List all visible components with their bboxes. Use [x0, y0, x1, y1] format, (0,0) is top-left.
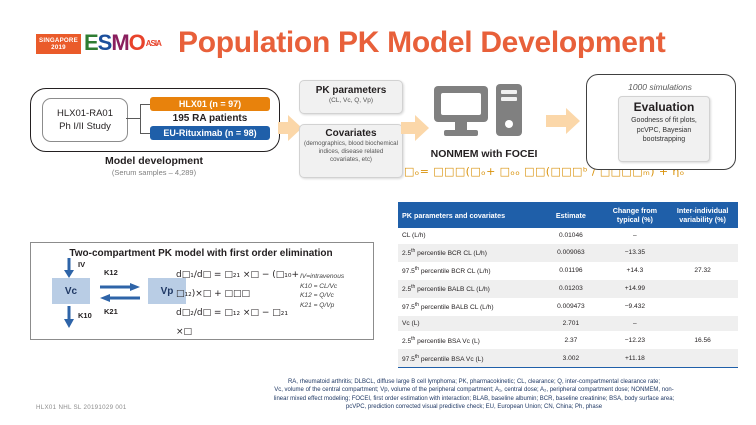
- covariates-subtitle: (demographics, blood biochemical indices…: [300, 140, 402, 164]
- pk-model-equation-line1: d□₁/d□ = □₂₁ ×□ − (□₁₀+ □₁₂)×□ + □□□: [176, 266, 306, 304]
- cell-parameter: CL (L/h): [398, 228, 539, 244]
- table-row: 97.5th percentile BSA Vc (L)3.002+11.18: [398, 349, 738, 367]
- nonmem-label: NONMEM with FOCEI: [404, 148, 564, 160]
- cell-change: +14.99: [603, 280, 668, 298]
- logo-city: SINGAPORE: [39, 37, 78, 44]
- cell-estimate: 3.002: [539, 349, 602, 367]
- covariates-title: Covariates: [300, 128, 402, 139]
- footnote-line-1: RA, rheumatoid arthritis; DLBCL, diffuse…: [196, 378, 752, 386]
- cell-change: −9.432: [603, 298, 668, 316]
- footnote-line-3: linear mixed effect modeling; FOCEI, fir…: [196, 395, 752, 403]
- legend-item-k12: K12 = Q/Vc: [300, 291, 370, 301]
- table-row: 2.5th percentile BSA Vc (L)2.37−12.2316.…: [398, 331, 738, 349]
- page-title: Population PK Model Development: [178, 26, 665, 60]
- logo-year: 2019: [39, 44, 78, 51]
- cell-iiv: [667, 349, 738, 367]
- pk-model-title: Two-compartment PK model with first orde…: [40, 248, 362, 259]
- study-name-box: HLX01-RA01 Ph I/II Study: [42, 98, 128, 142]
- logo-asia-suffix: ASIA: [146, 33, 161, 55]
- study-name-line1: HLX01-RA01: [57, 107, 113, 120]
- logo-singapore-badge: SINGAPORE 2019: [36, 34, 81, 54]
- simulations-label: 1000 simulations: [600, 82, 720, 92]
- pk-parameters-title: PK parameters: [300, 85, 402, 96]
- cell-change: –: [603, 316, 668, 332]
- cell-parameter: 2.5th percentile BSA Vc (L): [398, 331, 539, 349]
- k12-label: K12: [104, 268, 118, 277]
- cell-estimate: 0.01196: [539, 262, 602, 280]
- intercompartment-transfer-arrows-icon: [98, 282, 142, 304]
- connector-line: [140, 104, 150, 105]
- central-compartment-box: Vc: [52, 278, 90, 304]
- cell-change: −13.35: [603, 244, 668, 262]
- connector-line: [140, 133, 150, 134]
- slide-identifier: HLX01 NHL SL 20191029 001: [36, 404, 127, 411]
- cell-iiv: [667, 244, 738, 262]
- serum-samples-caption: (Serum samples – 4,289): [64, 168, 244, 177]
- cell-estimate: 0.01203: [539, 280, 602, 298]
- desktop-computer-icon: [432, 84, 528, 144]
- column-header-iiv: Inter-individual variability (%): [667, 202, 738, 228]
- cell-estimate: 2.701: [539, 316, 602, 332]
- evaluation-subtitle: Goodness of fit plots, pcVPC, Bayesian b…: [619, 116, 709, 145]
- cell-parameter: Vc (L): [398, 316, 539, 332]
- cell-iiv: [667, 316, 738, 332]
- table-row: 2.5th percentile BALB CL (L/h)0.01203+14…: [398, 280, 738, 298]
- logo-letter-o: O: [129, 32, 145, 54]
- pk-parameters-box: PK parameters (CL, Vc, Q, Vp): [299, 80, 403, 114]
- table-row: CL (L/h)0.01046–: [398, 228, 738, 244]
- cell-parameter: 2.5th percentile BALB CL (L/h): [398, 280, 539, 298]
- cell-estimate: 0.009063: [539, 244, 602, 262]
- cell-iiv: [667, 228, 738, 244]
- cell-change: +11.18: [603, 349, 668, 367]
- cell-estimate: 0.01046: [539, 228, 602, 244]
- iv-input-arrow-icon: [62, 258, 76, 278]
- column-header-estimate: Estimate: [539, 202, 602, 228]
- k21-label: K21: [104, 307, 118, 316]
- nonmem-computer-icon: [432, 84, 528, 149]
- cell-parameter: 97.5th percentile BCR CL (L/h): [398, 262, 539, 280]
- pk-parameters-subtitle: (CL, Vc, Q, Vp): [300, 97, 402, 104]
- pk-model-equations: d□₁/d□ = □₂₁ ×□ − (□₁₀+ □₁₂)×□ + □□□ d□₂…: [176, 266, 306, 342]
- evaluation-box: Evaluation Goodness of fit plots, pcVPC,…: [618, 96, 710, 162]
- table-row: 97.5th percentile BCR CL (L/h)0.01196+14…: [398, 262, 738, 280]
- covariates-box: Covariates (demographics, blood biochemi…: [299, 124, 403, 178]
- cell-parameter: 97.5th percentile BSA Vc (L): [398, 349, 539, 367]
- legend-item-k21: K21 = Q/Vp: [300, 301, 370, 311]
- patient-count-label: 195 RA patients: [150, 111, 270, 125]
- legend-item-iv: IV=intravenous: [300, 272, 370, 282]
- iv-label: IV: [78, 260, 85, 269]
- elimination-arrow-icon: [62, 306, 76, 328]
- connector-line: [140, 104, 141, 133]
- cell-iiv: 27.32: [667, 262, 738, 280]
- evaluation-title: Evaluation: [619, 100, 709, 114]
- cell-iiv: 16.56: [667, 331, 738, 349]
- cell-estimate: 0.009473: [539, 298, 602, 316]
- cell-parameter: 97.5th percentile BALB CL (L/h): [398, 298, 539, 316]
- table-row: 97.5th percentile BALB CL (L/h)0.009473−…: [398, 298, 738, 316]
- logo-esmo-wordmark: E S M O ASIA: [84, 32, 161, 55]
- table-row: Vc (L)2.701–: [398, 316, 738, 332]
- study-name-line2: Ph I/II Study: [59, 120, 111, 133]
- treatment-arm-hlx01: HLX01 (n = 97): [150, 97, 270, 111]
- cell-change: −12.23: [603, 331, 668, 349]
- pk-model-equation-line2: d□₂/d□ = □₁₂ ×□ − □₂₁ ×□: [176, 304, 306, 342]
- cell-estimate: 2.37: [539, 331, 602, 349]
- esmo-asia-logo: SINGAPORE 2019 E S M O ASIA: [36, 32, 161, 55]
- logo-letter-s: S: [98, 32, 112, 54]
- legend-item-k10: K10 = CL/Vc: [300, 282, 370, 292]
- cell-iiv: [667, 280, 738, 298]
- cell-change: –: [603, 228, 668, 244]
- abbreviations-footnote: RA, rheumatoid arthritis; DLBCL, diffuse…: [196, 378, 752, 412]
- column-header-change: Change from typical (%): [603, 202, 668, 228]
- pk-results-table: PK parameters and covariates Estimate Ch…: [398, 202, 738, 368]
- logo-letter-m: M: [111, 32, 128, 54]
- column-header-parameter: PK parameters and covariates: [398, 202, 539, 228]
- cell-parameter: 2.5th percentile BCR CL (L/h): [398, 244, 539, 262]
- connector-line: [126, 118, 140, 119]
- logo-letter-e: E: [84, 32, 98, 54]
- table-header-row: PK parameters and covariates Estimate Ch…: [398, 202, 738, 228]
- footnote-line-4: pcVPC, prediction corrected visual predi…: [196, 403, 752, 411]
- k10-label: K10: [78, 311, 92, 320]
- footnote-line-2: Vc, volume of the central compartment; V…: [196, 386, 752, 394]
- treatment-arm-eu-rituximab: EU-Rituximab (n = 98): [150, 126, 270, 140]
- cell-change: +14.3: [603, 262, 668, 280]
- model-development-caption: Model development: [64, 155, 244, 167]
- cell-iiv: [667, 298, 738, 316]
- table-row: 2.5th percentile BCR CL (L/h)0.009063−13…: [398, 244, 738, 262]
- pk-model-legend: IV=intravenous K10 = CL/Vc K12 = Q/Vc K2…: [300, 272, 370, 310]
